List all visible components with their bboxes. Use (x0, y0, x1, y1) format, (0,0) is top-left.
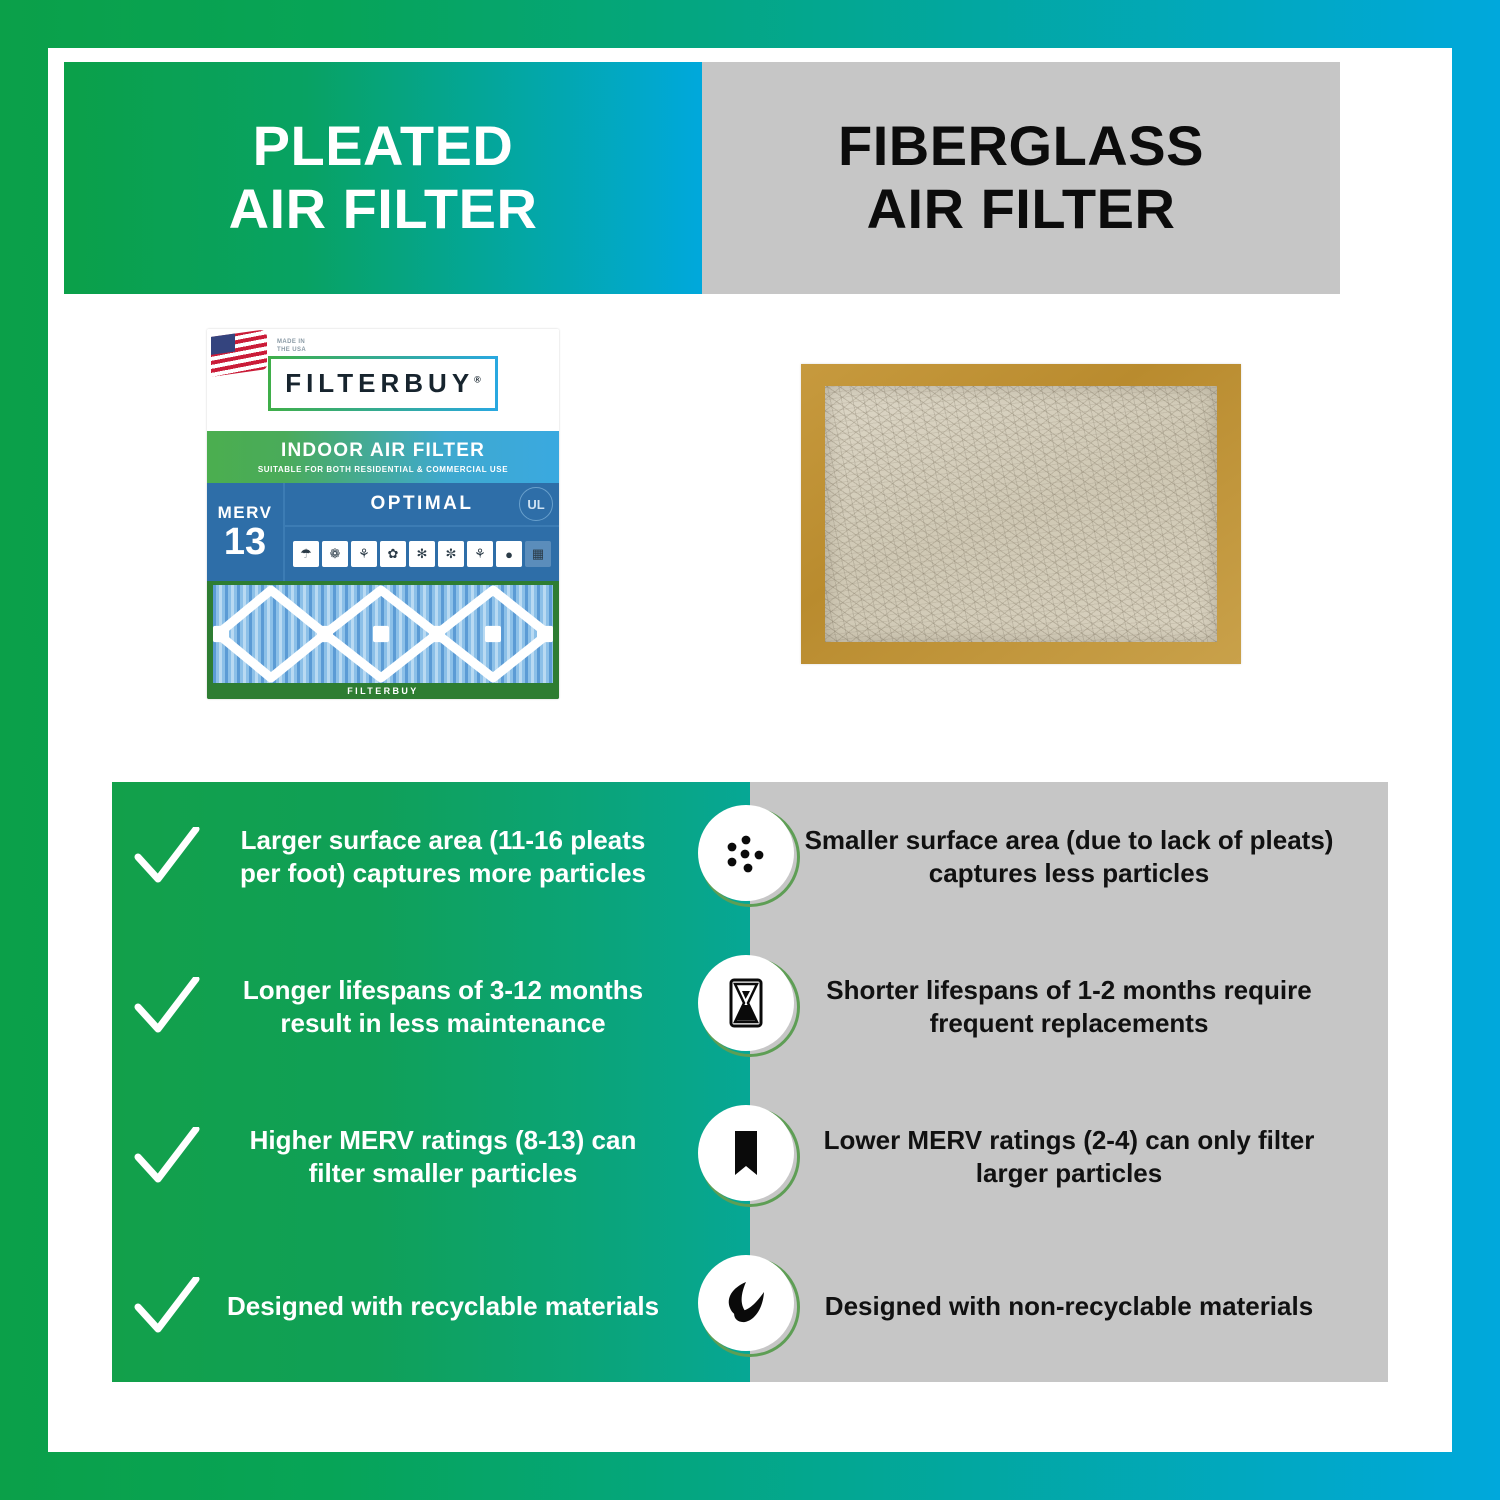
bookmark-glyph (719, 1126, 773, 1180)
filtration-tile-icon: ✿ (380, 541, 406, 567)
filtration-tile-icon: ☂ (293, 541, 319, 567)
comparison-row: Designed with recyclable materials Desig… (112, 1232, 1388, 1382)
package-footer-brand: FILTERBUY (207, 683, 559, 699)
package-banner: INDOOR AIR FILTER SUITABLE FOR BOTH RESI… (207, 431, 559, 483)
hourglass-glyph (719, 976, 773, 1030)
comparison-row: Higher MERV ratings (8-13) can filter sm… (112, 1082, 1388, 1232)
checkmark-icon (134, 977, 200, 1037)
checkmark-icon (134, 1127, 200, 1187)
brand-box: FILTERBUY® (268, 356, 498, 411)
tier-label: OPTIMAL (371, 493, 474, 515)
filtration-tile-icon-dim: ▦ (525, 541, 551, 567)
icon-disc (698, 1105, 794, 1201)
fiberglass-filter-image (801, 364, 1241, 664)
pleated-benefit-text: Designed with recyclable materials (222, 1290, 750, 1323)
tier-row: OPTIMAL UL (285, 483, 559, 527)
icon-disc (698, 955, 794, 1051)
filtration-tile-icon: ❁ (322, 541, 348, 567)
fiberglass-drawback-text: Shorter lifespans of 1-2 months require … (750, 974, 1388, 1041)
filtration-tile-icon: ⚘ (467, 541, 493, 567)
brand-name: FILTERBUY® (285, 368, 481, 399)
particles-icon (698, 805, 802, 909)
fiberglass-drawback-text: Smaller surface area (due to lack of ple… (750, 824, 1388, 891)
leaf-glyph (719, 1276, 773, 1330)
comparison-row: Longer lifespans of 3-12 months result i… (112, 932, 1388, 1082)
merv-value: 13 (224, 523, 266, 561)
header-pleated: PLEATED AIR FILTER (64, 62, 702, 294)
usa-flag-icon (211, 329, 267, 377)
package-spec-band: MERV 13 OPTIMAL UL ☂ ❁ ⚘ ✿ ✻ (207, 483, 559, 581)
ul-certification-icon: UL (519, 487, 553, 521)
hourglass-icon (698, 955, 802, 1059)
pleated-benefit-text: Higher MERV ratings (8-13) can filter sm… (222, 1124, 750, 1191)
pleated-benefit-text: Larger surface area (11-16 pleats per fo… (222, 824, 750, 891)
pleated-benefit-text: Longer lifespans of 3-12 months result i… (222, 974, 750, 1041)
check-cell (112, 977, 222, 1037)
check-cell (112, 1127, 222, 1187)
banner-title: INDOOR AIR FILTER (281, 440, 485, 462)
support-mesh-icon (213, 585, 553, 683)
infographic-page: PLEATED AIR FILTER FIBERGLASS AIR FILTER… (0, 0, 1500, 1500)
filtration-tile-icon: ✼ (438, 541, 464, 567)
fiberglass-media-texture (825, 386, 1217, 642)
brand-word: FILTERBUY (285, 368, 474, 398)
pleated-filter-package: MADE IN THE USA FILTERBUY® INDOOR AIR FI… (207, 329, 559, 699)
checkmark-icon (134, 1277, 200, 1337)
pleated-product-cell: MADE IN THE USA FILTERBUY® INDOOR AIR FI… (64, 294, 702, 734)
spec-right: OPTIMAL UL ☂ ❁ ⚘ ✿ ✻ ✼ ⚘ ● ▦ (285, 483, 559, 581)
comparison-row: Larger surface area (11-16 pleats per fo… (112, 782, 1388, 932)
check-cell (112, 1277, 222, 1337)
fiberglass-drawback-text: Designed with non-recyclable materials (750, 1290, 1388, 1323)
product-images-row: MADE IN THE USA FILTERBUY® INDOOR AIR FI… (64, 294, 1340, 734)
filtration-icon-strip: ☂ ❁ ⚘ ✿ ✻ ✼ ⚘ ● ▦ (285, 527, 559, 581)
pleated-media: FILTERBUY (207, 581, 559, 699)
icon-disc (698, 805, 794, 901)
icon-disc (698, 1255, 794, 1351)
comparison-rows: Larger surface area (11-16 pleats per fo… (112, 782, 1388, 1382)
header-fiberglass: FIBERGLASS AIR FILTER (702, 62, 1340, 294)
brand-registered-mark: ® (474, 374, 481, 384)
leaf-icon (698, 1255, 802, 1359)
particles-glyph (719, 826, 773, 880)
fiberglass-drawback-text: Lower MERV ratings (2-4) can only filter… (750, 1124, 1388, 1191)
bookmark-icon (698, 1105, 802, 1209)
package-top: MADE IN THE USA FILTERBUY® (207, 329, 559, 431)
filtration-tile-icon: ⚘ (351, 541, 377, 567)
fiberglass-product-cell (702, 294, 1340, 734)
check-cell (112, 827, 222, 887)
header-fiberglass-title: FIBERGLASS AIR FILTER (838, 115, 1204, 240)
merv-block: MERV 13 (207, 483, 285, 581)
filtration-tile-icon: ✻ (409, 541, 435, 567)
merv-label: MERV (218, 503, 273, 523)
header-band: PLEATED AIR FILTER FIBERGLASS AIR FILTER (64, 62, 1340, 294)
banner-subtitle: SUITABLE FOR BOTH RESIDENTIAL & COMMERCI… (258, 465, 508, 474)
checkmark-icon (134, 827, 200, 887)
made-in-usa-label: MADE IN THE USA (277, 339, 306, 354)
filtration-tile-icon: ● (496, 541, 522, 567)
header-pleated-title: PLEATED AIR FILTER (229, 115, 538, 240)
comparison-panel: Larger surface area (11-16 pleats per fo… (112, 782, 1388, 1382)
